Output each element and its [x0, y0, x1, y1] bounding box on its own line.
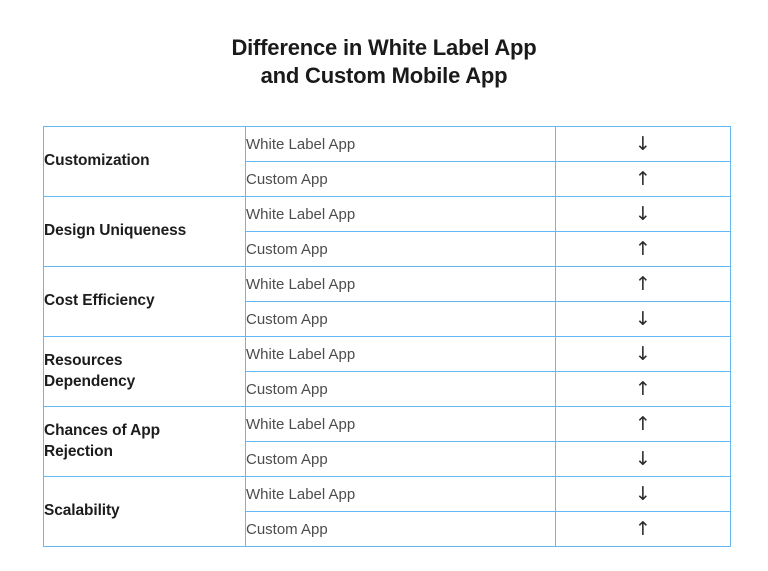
- app-type-custom: Custom App: [246, 372, 556, 407]
- table-row: Scalability White Label App ↓: [44, 477, 731, 512]
- feature-label-line-2: Dependency: [44, 373, 135, 390]
- arrow-down-icon: ↓: [556, 477, 731, 512]
- arrow-up-icon: ↑: [556, 232, 731, 267]
- page-root: Difference in White Label App and Custom…: [0, 0, 768, 571]
- arrow-up-icon: ↑: [556, 407, 731, 442]
- app-type-custom: Custom App: [246, 442, 556, 477]
- app-type-white-label: White Label App: [246, 337, 556, 372]
- arrow-up-icon: ↑: [556, 267, 731, 302]
- comparison-table-container: Customization White Label App ↓ Custom A…: [43, 126, 730, 547]
- app-type-white-label: White Label App: [246, 477, 556, 512]
- arrow-up-icon: ↑: [556, 162, 731, 197]
- app-type-white-label: White Label App: [246, 197, 556, 232]
- comparison-table: Customization White Label App ↓ Custom A…: [43, 126, 731, 547]
- app-type-custom: Custom App: [246, 302, 556, 337]
- app-type-white-label: White Label App: [246, 407, 556, 442]
- feature-label-line-2: Rejection: [44, 443, 113, 460]
- feature-label-cost-efficiency: Cost Efficiency: [44, 267, 246, 337]
- table-row: Customization White Label App ↓: [44, 127, 731, 162]
- feature-label-line-1: Resources: [44, 352, 122, 369]
- feature-label-scalability: Scalability: [44, 477, 246, 547]
- arrow-down-icon: ↓: [556, 127, 731, 162]
- app-type-white-label: White Label App: [246, 127, 556, 162]
- page-title-line-2: and Custom Mobile App: [0, 62, 768, 90]
- arrow-down-icon: ↓: [556, 197, 731, 232]
- app-type-custom: Custom App: [246, 232, 556, 267]
- arrow-down-icon: ↓: [556, 302, 731, 337]
- table-row: Chances of App Rejection White Label App…: [44, 407, 731, 442]
- feature-label-chances-of-app-rejection: Chances of App Rejection: [44, 407, 246, 477]
- table-row: Design Uniqueness White Label App ↓: [44, 197, 731, 232]
- app-type-custom: Custom App: [246, 512, 556, 547]
- app-type-custom: Custom App: [246, 162, 556, 197]
- arrow-down-icon: ↓: [556, 337, 731, 372]
- table-row: Resources Dependency White Label App ↓: [44, 337, 731, 372]
- feature-label-design-uniqueness: Design Uniqueness: [44, 197, 246, 267]
- arrow-up-icon: ↑: [556, 512, 731, 547]
- feature-label-line-1: Chances of App: [44, 422, 160, 439]
- arrow-up-icon: ↑: [556, 372, 731, 407]
- comparison-table-body: Customization White Label App ↓ Custom A…: [44, 127, 731, 547]
- table-row: Cost Efficiency White Label App ↑: [44, 267, 731, 302]
- app-type-white-label: White Label App: [246, 267, 556, 302]
- arrow-down-icon: ↓: [556, 442, 731, 477]
- feature-label-resources-dependency: Resources Dependency: [44, 337, 246, 407]
- page-title: Difference in White Label App and Custom…: [0, 34, 768, 90]
- page-title-line-1: Difference in White Label App: [0, 34, 768, 62]
- feature-label-customization: Customization: [44, 127, 246, 197]
